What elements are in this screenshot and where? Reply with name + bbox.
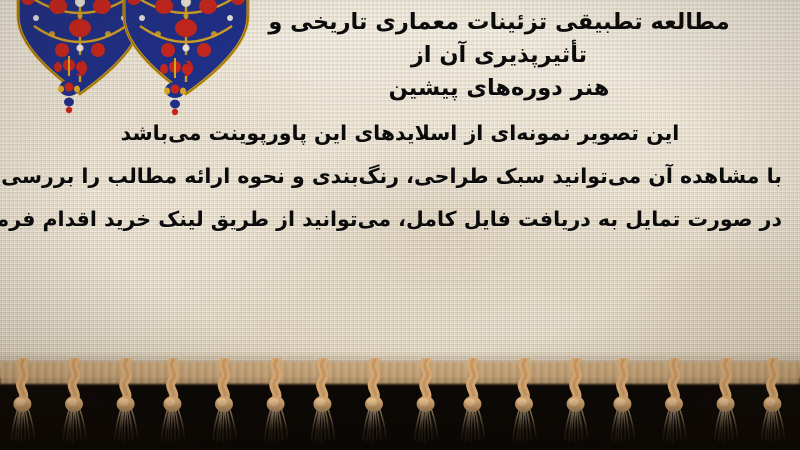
fringe-tassel-icon xyxy=(505,358,545,446)
fringe-tassel-icon xyxy=(605,358,645,446)
fringe-tassel-icon xyxy=(5,358,45,446)
fringe-tassel-icon xyxy=(305,358,345,446)
fringe-tassel-icon xyxy=(155,358,195,446)
fringe-tassel-icon xyxy=(55,358,95,446)
fringe-tassel-icon xyxy=(655,358,695,446)
slide-canvas: مطالعه تطبیقی تزئینات معماری تاریخی و تأ… xyxy=(0,0,800,450)
fringe-tassel-icon xyxy=(755,358,795,446)
fringe-tassel-icon xyxy=(705,358,745,446)
fringe-tassel-icon xyxy=(205,358,245,446)
carpet-fringe xyxy=(0,358,800,450)
body-line-2: با مشاهده آن می‌توانید سبک طراحی، رنگ‌بن… xyxy=(18,155,782,198)
fringe-tassel-icon xyxy=(455,358,495,446)
title-line-2: هنر دوره‌های پیشین xyxy=(216,72,782,105)
body-line-1: این تصویر نمونه‌ای از اسلایدهای این پاور… xyxy=(18,112,782,155)
medallion-pendant-icon xyxy=(158,56,192,116)
slide-title: مطالعه تطبیقی تزئینات معماری تاریخی و تأ… xyxy=(216,6,782,105)
fringe-tassel-icon xyxy=(355,358,395,446)
fringe-tassel-icon xyxy=(105,358,145,446)
title-line-1: مطالعه تطبیقی تزئینات معماری تاریخی و تأ… xyxy=(216,6,782,72)
fringe-tassel-icon xyxy=(555,358,595,446)
medallion-pendant-icon xyxy=(52,54,86,114)
fringe-tassel-icon xyxy=(405,358,445,446)
slide-body: این تصویر نمونه‌ای از اسلایدهای این پاور… xyxy=(18,112,782,241)
body-line-3: در صورت تمایل به دریافت فایل کامل، می‌تو… xyxy=(18,198,782,241)
fringe-tassel-icon xyxy=(255,358,295,446)
